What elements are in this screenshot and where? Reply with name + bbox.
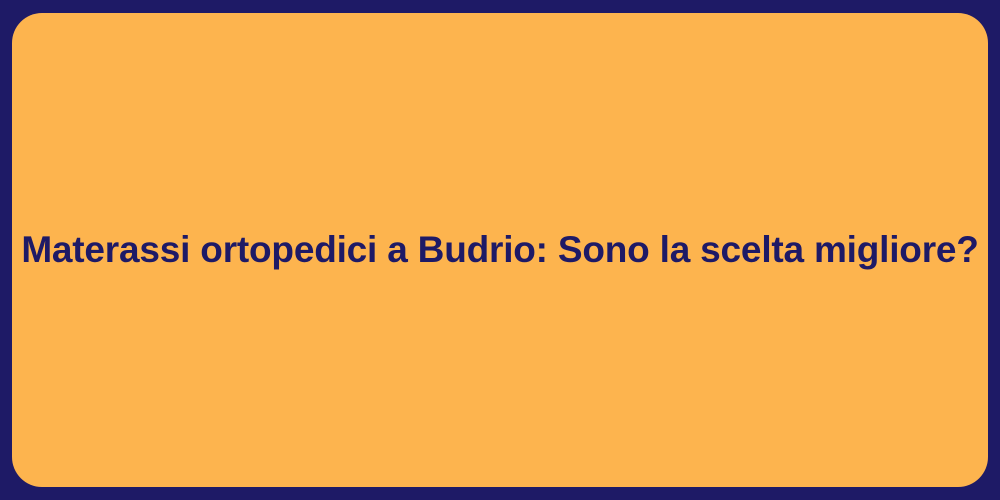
banner-frame: Materassi ortopedici a Budrio: Sono la s… bbox=[0, 0, 1000, 500]
banner-card: Materassi ortopedici a Budrio: Sono la s… bbox=[12, 13, 988, 487]
page-title: Materassi ortopedici a Budrio: Sono la s… bbox=[12, 228, 988, 272]
